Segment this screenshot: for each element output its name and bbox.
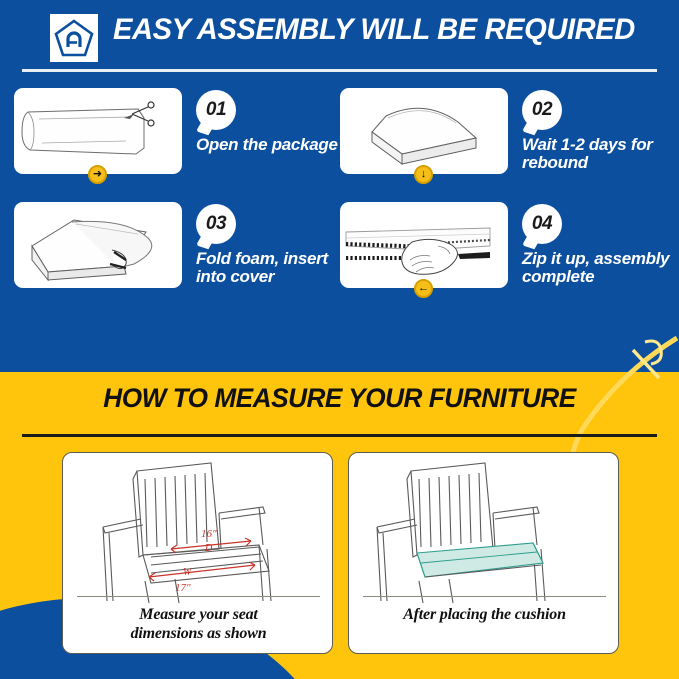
step-text-02: 02 Wait 1-2 days for rebound xyxy=(522,90,672,172)
chair-with-cushion-illustration xyxy=(349,453,618,603)
step-number-02: 02 xyxy=(532,99,552,121)
step-number-badge-02: 02 xyxy=(522,90,562,130)
page-title: EASY ASSEMBLY WILL BE REQUIRED xyxy=(113,13,635,47)
chair-with-measurements-illustration: 16" D W 17" xyxy=(63,453,332,603)
measure-caption-right-line1: After placing the cushion xyxy=(349,605,619,624)
arrow-right-icon: ➜ xyxy=(88,165,107,184)
step-label-04: Zip it up, assembly complete xyxy=(522,250,672,286)
measure-title: HOW TO MEASURE YOUR FURNITURE xyxy=(10,383,669,414)
step-item-02: ↓ 02 Wait 1-2 days for rebound xyxy=(340,88,672,191)
depth-letter-label: D xyxy=(204,543,213,554)
step-label-01: Open the package xyxy=(196,136,346,154)
measure-caption-left-line2: dimensions as shown xyxy=(63,624,333,643)
foam-into-cover-illustration xyxy=(14,202,182,288)
measure-card-right: After placing the cushion xyxy=(348,452,619,654)
measure-card-left: 16" D W 17" Measure your seat dimensions… xyxy=(62,452,333,654)
measure-caption-left: Measure your seat dimensions as shown xyxy=(63,605,333,643)
card-divider-left xyxy=(77,596,320,597)
step-number-badge-04: 04 xyxy=(522,204,562,244)
header-divider xyxy=(22,69,657,72)
step-label-03: Fold foam, insert into cover xyxy=(196,250,346,286)
depth-value-label: 16" xyxy=(201,528,217,540)
house-pentagon-logo-icon xyxy=(50,14,98,62)
measure-caption-right: After placing the cushion xyxy=(349,605,619,624)
assembly-header: EASY ASSEMBLY WILL BE REQUIRED xyxy=(0,0,679,78)
measure-divider xyxy=(22,434,657,437)
step-number-badge-01: 01 xyxy=(196,90,236,130)
step-item-04: ← 04 Zip it up, assembly complete xyxy=(340,202,672,305)
step-label-02: Wait 1-2 days for rebound xyxy=(522,136,672,172)
step-number-04: 04 xyxy=(532,213,552,235)
card-divider-right xyxy=(363,596,606,597)
arrow-down-icon: ↓ xyxy=(414,165,433,184)
width-value-label: 17" xyxy=(175,582,191,594)
hand-zipping-cushion-illustration xyxy=(340,202,508,288)
step-item-01: ➜ 01 Open the package xyxy=(14,88,346,191)
step-text-01: 01 Open the package xyxy=(196,90,346,154)
infographic-page: EASY ASSEMBLY WILL BE REQUIRED xyxy=(0,0,679,679)
arrow-left-icon: ← xyxy=(414,279,433,298)
cushion-foam-illustration xyxy=(340,88,508,174)
step-text-03: 03 Fold foam, insert into cover xyxy=(196,204,346,286)
step-number-01: 01 xyxy=(206,99,226,121)
package-with-scissors-illustration xyxy=(14,88,182,174)
step-item-03: 03 Fold foam, insert into cover xyxy=(14,202,346,305)
step-number-03: 03 xyxy=(206,213,226,235)
step-number-badge-03: 03 xyxy=(196,204,236,244)
measure-caption-left-line1: Measure your seat xyxy=(63,605,333,624)
step-text-04: 04 Zip it up, assembly complete xyxy=(522,204,672,286)
